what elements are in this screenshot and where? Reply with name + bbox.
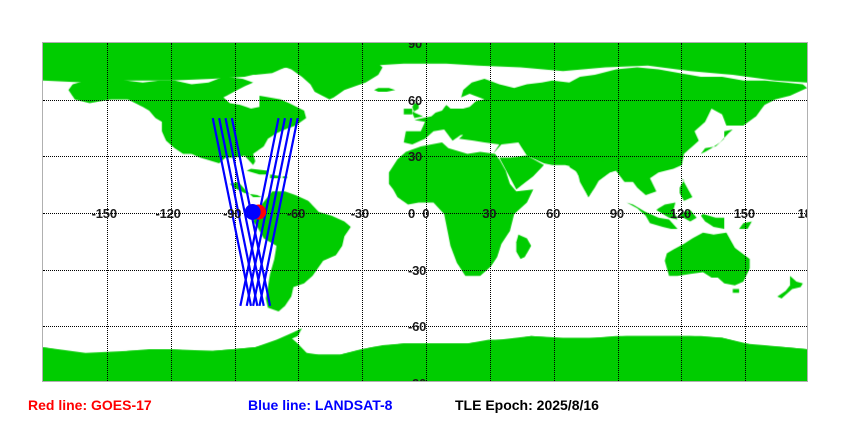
longitude-tick-label: 60	[546, 207, 560, 220]
longitude-tick-label: 30	[482, 207, 496, 220]
legend-bar: Red line: GOES-17 Blue line: LANDSAT-8 T…	[0, 392, 850, 425]
latitude-tick-label: -90	[408, 377, 426, 382]
longitude-tick-label: 0	[422, 207, 429, 220]
longitude-tick-label: -90	[223, 207, 241, 220]
longitude-tick-label: 90	[610, 207, 624, 220]
legend-goes17: Red line: GOES-17	[28, 398, 152, 412]
longitude-tick-label: -60	[287, 207, 305, 220]
satellite-ground-track-map: 9060300-30-60-90-300306090120150180-150-…	[0, 0, 850, 425]
longitude-tick-label: -120	[155, 207, 180, 220]
longitude-tick-label: -30	[351, 207, 369, 220]
latitude-tick-label: 0	[408, 207, 415, 220]
longitude-tick-label: 120	[670, 207, 691, 220]
longitude-tick-label: 150	[734, 207, 755, 220]
latitude-tick-label: 30	[408, 150, 422, 163]
gridline-parallel	[43, 156, 807, 157]
latitude-tick-label: -60	[408, 320, 426, 333]
latitude-tick-label: -30	[408, 264, 426, 277]
world-map-frame: 9060300-30-60-90-300306090120150180-150-…	[42, 42, 808, 382]
longitude-tick-label: 180	[798, 207, 808, 220]
longitude-tick-label: -150	[92, 207, 117, 220]
legend-tle-epoch: TLE Epoch: 2025/8/16	[455, 398, 599, 412]
legend-landsat8: Blue line: LANDSAT-8	[248, 398, 392, 412]
gridline-parallel	[43, 100, 807, 101]
latitude-tick-label: 90	[408, 42, 422, 50]
latitude-tick-label: 60	[408, 94, 422, 107]
